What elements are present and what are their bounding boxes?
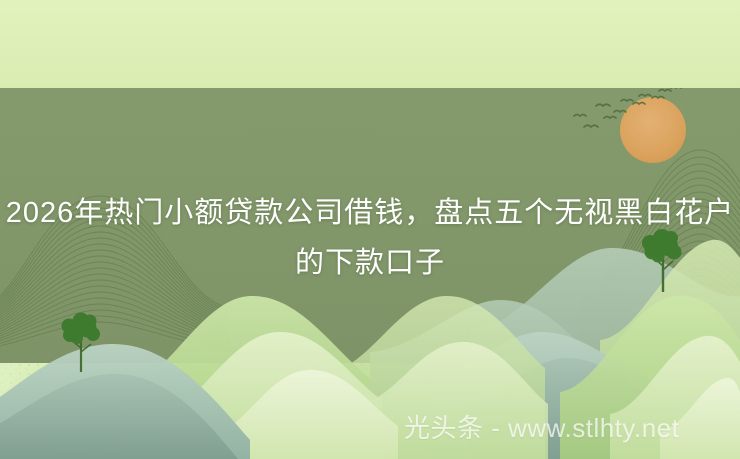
site-watermark: 光头条 - www.stlhty.net: [404, 411, 679, 445]
tree-left-lower-icon: [62, 313, 101, 373]
poster-canvas: 2026年热门小额贷款公司借钱，盘点五个无视黑白花户的下款口子 光头条 - ww…: [0, 0, 740, 459]
page-title: 2026年热门小额贷款公司借钱，盘点五个无视黑白花户的下款口子: [0, 188, 740, 288]
